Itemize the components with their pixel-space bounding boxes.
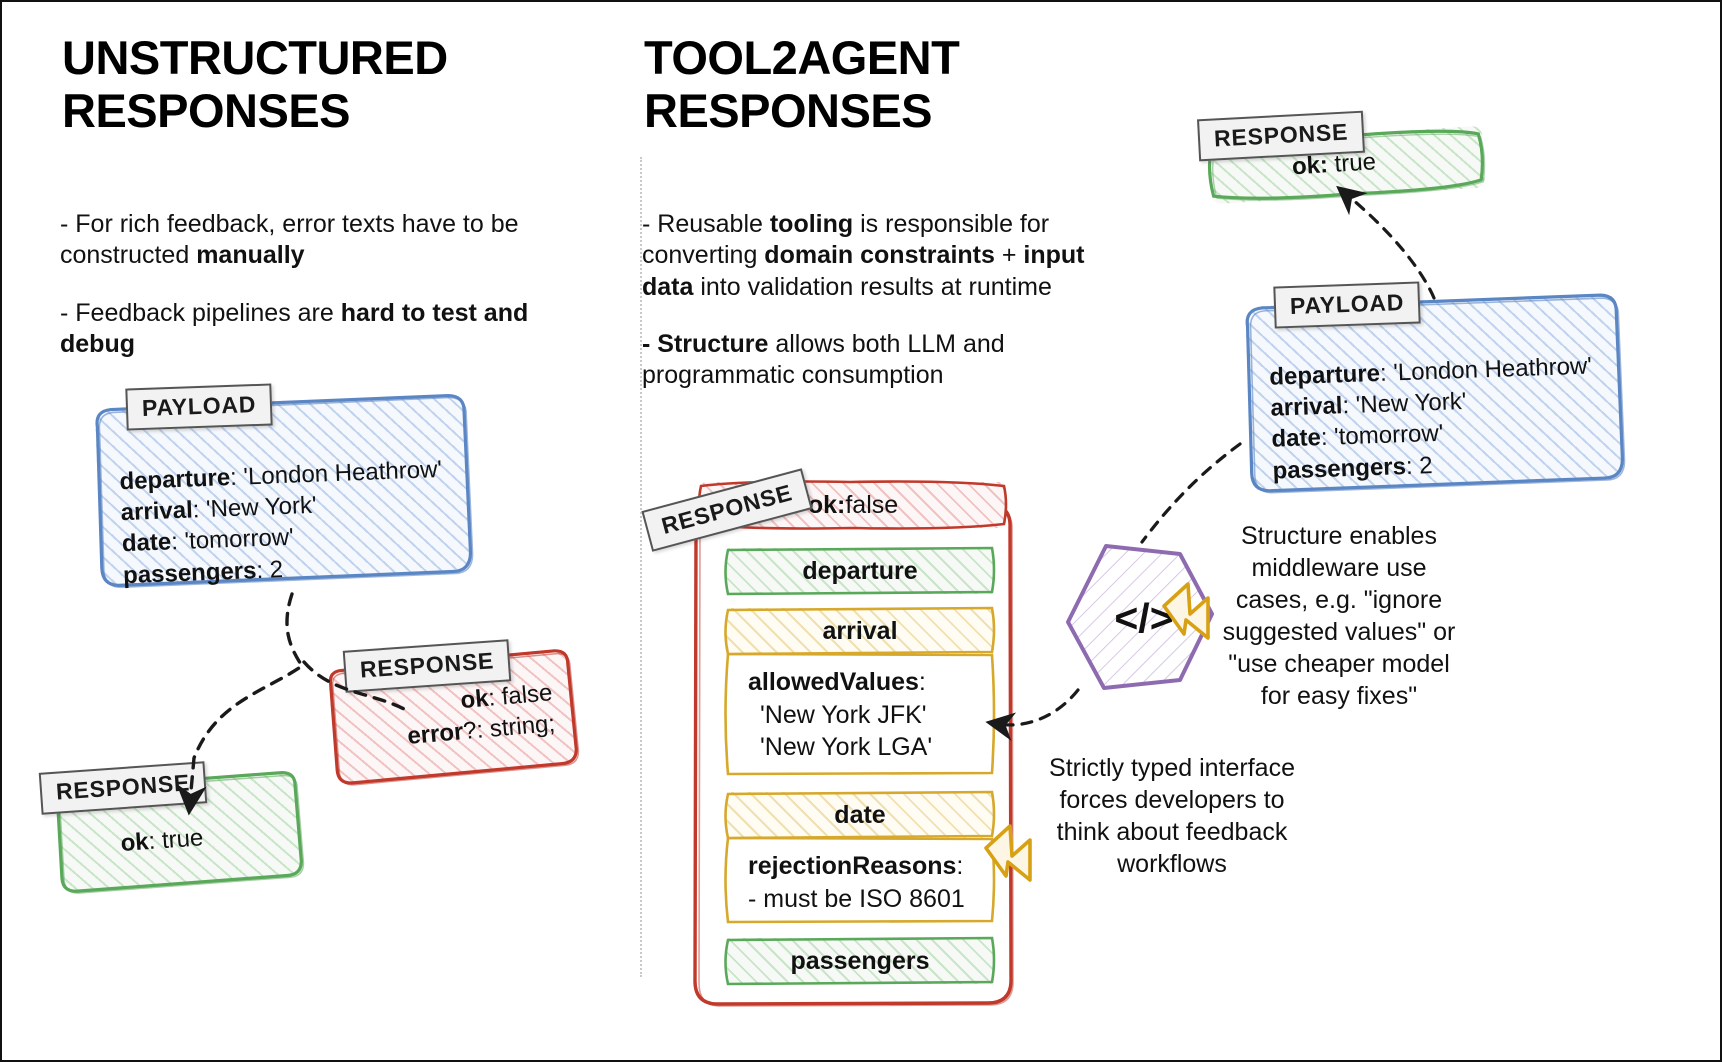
structured-ok-key: ok: [808,491,846,519]
structured-ok-text: ok:false [808,491,898,520]
left-column-bullets: - For rich feedback, error texts have to… [60,209,550,386]
left-bullet-2-text: - Feedback pipelines are [60,299,341,327]
date-rejection-reasons-colon: : [956,852,963,880]
right-payload-value-arrival: : 'New York' [1342,388,1467,419]
left-payload-chip: PAYLOAD [125,383,273,430]
annotation-middleware: Structure enables middleware use cases, … [1214,520,1464,712]
right-payload-key-date: date [1271,424,1321,453]
structured-row-arrival: arrival [726,608,994,654]
row-date-label: date [834,801,885,830]
arrival-allowed-values-key-line: allowedValues: [748,666,994,699]
error-error-key: error [406,718,464,750]
payload-key-date: date [121,529,171,558]
arrival-allowed-value-0: 'New York JFK' [748,699,994,732]
arrival-allowed-values-colon: : [919,668,926,696]
right-b1-tooling: tooling [770,210,853,238]
payload-value-arrival: : 'New York' [192,492,317,524]
right-payload-value-departure: : 'London Heathrow' [1380,352,1593,386]
left-bullet-1: - For rich feedback, error texts have to… [60,209,550,272]
right-payload-value-date: : 'tomorrow' [1320,420,1443,451]
right-b1-a: - Reusable [642,210,770,238]
ok-key: ok [120,828,150,857]
right-column-title: TOOL2AGENT RESPONSES [644,32,1164,137]
arrival-allowed-value-1: 'New York LGA' [748,731,994,764]
right-bullet-1: - Reusable tooling is responsible for co… [642,209,1112,303]
structured-row-passengers: passengers [726,938,994,984]
right-bullet-2: - Structure allows both LLM and programm… [642,329,1112,392]
payload-key-departure: departure [119,464,231,495]
right-ok-response-chip: RESPONSE [1197,111,1365,162]
error-error-value: ?: string; [462,710,556,745]
right-payload-key-passengers: passengers [1272,453,1406,485]
structured-row-date: date [726,792,994,838]
code-icon: </> [1064,542,1224,694]
date-detail-text: rejectionReasons: - must be ISO 8601 [748,850,994,915]
structured-row-departure: departure [726,548,994,594]
right-payload-key-arrival: arrival [1270,392,1343,421]
structured-ok-value: false [845,491,898,519]
date-rejection-reasons-key-line: rejectionReasons: [748,850,994,883]
payload-value-departure: : 'London Heathrow' [230,456,443,491]
annotation-typed-interface: Strictly typed interface forces develope… [1038,752,1306,880]
right-b2-structure: - Structure [642,330,768,358]
error-ok-value: : false [487,679,553,711]
right-b1-e: into validation results at runtime [693,273,1052,301]
right-payload-key-departure: departure [1269,360,1381,391]
payload-value-passengers: : 2 [256,556,284,584]
right-column-bullets: - Reusable tooling is responsible for co… [642,209,1112,417]
left-column-title: UNSTRUCTURED RESPONSES [62,32,582,137]
row-passengers-label: passengers [791,947,930,976]
diagram-canvas: UNSTRUCTURED RESPONSES - For rich feedba… [0,0,1722,1062]
payload-key-arrival: arrival [120,497,193,527]
right-payload-chip: PAYLOAD [1273,281,1421,328]
payload-key-passengers: passengers [123,557,257,589]
structured-response-box: ok:false departure arrival allowedValues… [694,504,1012,1004]
row-arrival-label: arrival [822,617,897,646]
right-b1-domain-constraints: domain constraints [764,241,995,269]
row-departure-label: departure [802,557,917,586]
code-hexagon: </> [1064,542,1224,694]
date-rejection-reasons-key: rejectionReasons [748,852,956,880]
arrival-detail-box: allowedValues: 'New York JFK' 'New York … [726,654,994,774]
date-rejection-reason-0: - must be ISO 8601 [748,883,994,916]
date-detail-box: rejectionReasons: - must be ISO 8601 [726,838,994,922]
arrival-detail-text: allowedValues: 'New York JFK' 'New York … [748,666,994,764]
left-bullet-1-emphasis: manually [196,241,304,269]
ok-value: : true [148,824,204,855]
left-bullet-2: - Feedback pipelines are hard to test an… [60,298,550,361]
error-ok-key: ok [459,685,489,714]
payload-value-date: : 'tomorrow' [171,524,294,556]
right-payload-value-passengers: : 2 [1405,452,1433,480]
arrival-allowed-values-key: allowedValues [748,668,919,696]
right-b1-d: + [995,241,1024,269]
